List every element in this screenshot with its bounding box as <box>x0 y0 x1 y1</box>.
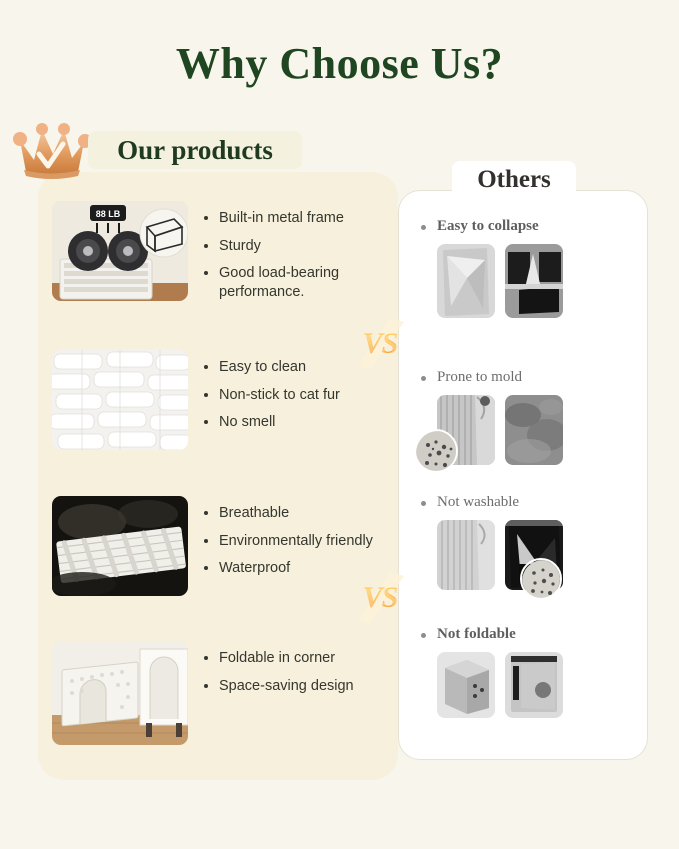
our-products-header: Our products <box>88 131 302 169</box>
other-photo-mold-stain <box>505 395 563 465</box>
product-photo-foldable <box>52 641 188 745</box>
list-item: No smell <box>204 413 340 432</box>
product-bullets: Easy to clean Non-stick to cat fur No sm… <box>204 350 340 441</box>
other-row: Not foldable <box>420 626 635 718</box>
product-bullets: Breathable Environmentally friendly Wate… <box>204 496 373 587</box>
other-photo-collapsed-light <box>437 244 495 318</box>
product-row: Easy to clean Non-stick to cat fur No sm… <box>52 350 392 450</box>
other-row: Easy to collapse <box>420 218 635 318</box>
other-row: Prone to mold <box>420 369 635 465</box>
list-item: Non-stick to cat fur <box>204 386 340 405</box>
other-photo-rigid-box <box>437 652 495 718</box>
other-photo-collapsed-dark <box>505 244 563 318</box>
our-products-title: Our products <box>117 135 273 166</box>
vs-badge: VS <box>352 570 408 626</box>
product-photo-weave-texture <box>52 350 188 450</box>
list-item: Good load-bearing performance. <box>204 264 379 301</box>
other-label: Not washable <box>420 494 635 511</box>
other-images <box>420 520 635 590</box>
product-photo-metal-frame: 88 LB <box>52 201 188 301</box>
list-item: Breathable <box>204 504 373 523</box>
vs-label: VS <box>352 316 408 372</box>
other-images <box>420 244 635 318</box>
other-label: Easy to collapse <box>420 218 635 235</box>
list-item: Waterproof <box>204 559 373 578</box>
product-row: Foldable in corner Space-saving design <box>52 641 392 745</box>
other-photo-metal-box <box>505 652 563 718</box>
product-bullets: Foldable in corner Space-saving design <box>204 641 354 704</box>
other-label: Not foldable <box>420 626 635 643</box>
vs-label: VS <box>352 570 408 626</box>
list-item: Easy to clean <box>204 358 340 377</box>
crown-check-icon <box>8 118 94 180</box>
dirt-zoom-inset <box>520 558 562 600</box>
list-item: Environmentally friendly <box>204 532 373 551</box>
others-header: Others <box>452 161 576 199</box>
product-photo-breathable <box>52 496 188 596</box>
other-images <box>420 395 635 465</box>
others-title: Others <box>477 166 551 194</box>
other-photo-stained-fabric <box>437 520 495 590</box>
other-images <box>420 652 635 718</box>
other-row: Not washable <box>420 494 635 590</box>
list-item: Built-in metal frame <box>204 209 379 228</box>
page-title: Why Choose Us? <box>0 0 679 89</box>
list-item: Foldable in corner <box>204 649 354 668</box>
vs-badge: VS <box>352 316 408 372</box>
list-item: Space-saving design <box>204 677 354 696</box>
list-item: Sturdy <box>204 237 379 256</box>
mold-zoom-inset <box>414 429 458 473</box>
other-label: Prone to mold <box>420 369 635 386</box>
svg-text:88 LB: 88 LB <box>96 209 121 219</box>
product-row: Breathable Environmentally friendly Wate… <box>52 496 392 596</box>
product-row: 88 LB Built-in metal frame Sturdy Good l… <box>52 201 392 310</box>
product-bullets: Built-in metal frame Sturdy Good load-be… <box>204 201 379 310</box>
